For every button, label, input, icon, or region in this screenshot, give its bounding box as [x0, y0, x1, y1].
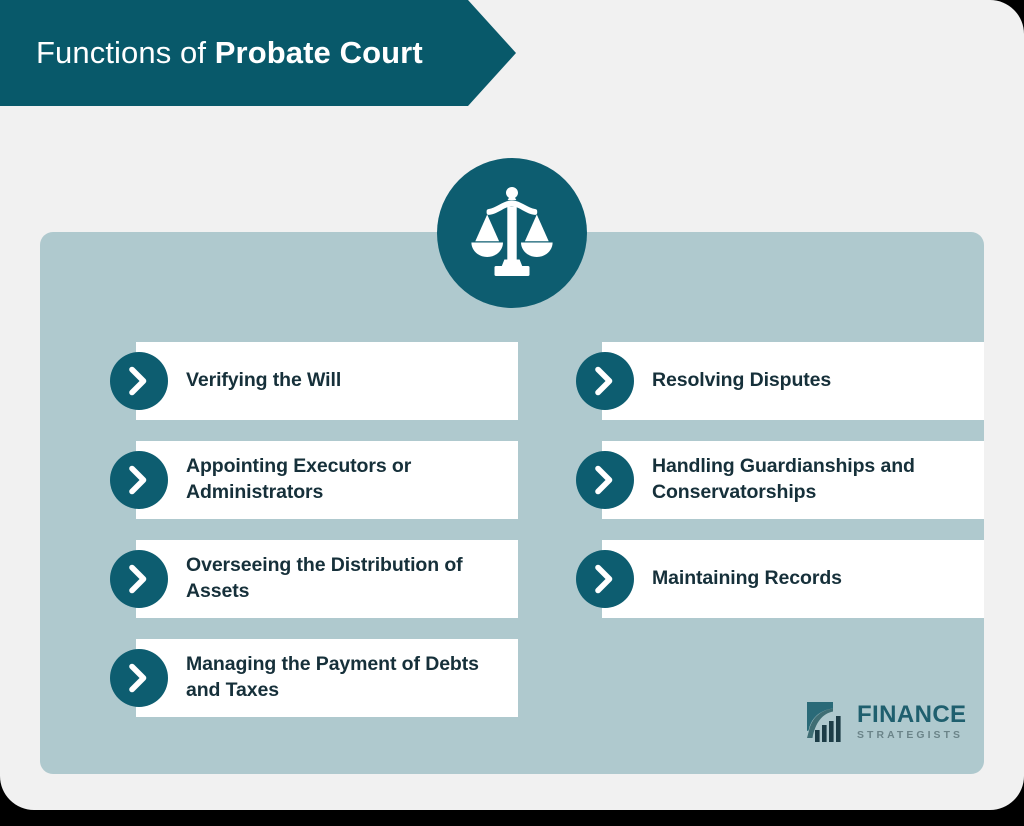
chevron-right-icon	[110, 451, 168, 509]
list-item[interactable]: Verifying the Will	[90, 342, 518, 420]
infographic-canvas: Functions of Probate Court	[0, 0, 1024, 826]
list-item-label: Maintaining Records	[652, 566, 842, 592]
list-item-label: Resolving Disputes	[652, 368, 831, 394]
chevron-right-icon	[110, 649, 168, 707]
list-item[interactable]: Appointing Executors or Administrators	[90, 441, 518, 519]
chevron-right-icon	[576, 352, 634, 410]
functions-right-column: Resolving Disputes Handling Guardianship…	[556, 342, 984, 639]
list-item-label: Verifying the Will	[186, 368, 341, 394]
brand-text: FINANCE STRATEGISTS	[857, 703, 966, 741]
functions-list: Verifying the Will Appointing Executors …	[40, 232, 984, 774]
chevron-right-icon	[576, 451, 634, 509]
page-title: Functions of Probate Court	[0, 35, 423, 71]
brand-name: FINANCE	[857, 703, 966, 727]
header-banner: Functions of Probate Court	[0, 0, 516, 106]
list-item[interactable]: Managing the Payment of Debts and Taxes	[90, 639, 518, 717]
page-title-bold: Probate Court	[215, 35, 423, 70]
ascending-bar-chart-logo-icon	[806, 700, 850, 744]
list-item-label: Appointing Executors or Administrators	[186, 454, 504, 506]
page-title-plain: Functions of	[36, 35, 215, 70]
list-item[interactable]: Handling Guardianships and Conservatorsh…	[556, 441, 984, 519]
brand-logo: FINANCE STRATEGISTS	[806, 698, 968, 746]
chevron-right-icon	[110, 352, 168, 410]
list-item[interactable]: Resolving Disputes	[556, 342, 984, 420]
list-item-label: Overseeing the Distribution of Assets	[186, 553, 504, 605]
list-item-label: Handling Guardianships and Conservatorsh…	[652, 454, 970, 506]
chevron-right-icon	[576, 550, 634, 608]
chevron-right-icon	[110, 550, 168, 608]
functions-left-column: Verifying the Will Appointing Executors …	[90, 342, 518, 738]
list-item[interactable]: Maintaining Records	[556, 540, 984, 618]
list-item-label: Managing the Payment of Debts and Taxes	[186, 652, 504, 704]
list-item[interactable]: Overseeing the Distribution of Assets	[90, 540, 518, 618]
brand-subtitle: STRATEGISTS	[857, 731, 966, 741]
